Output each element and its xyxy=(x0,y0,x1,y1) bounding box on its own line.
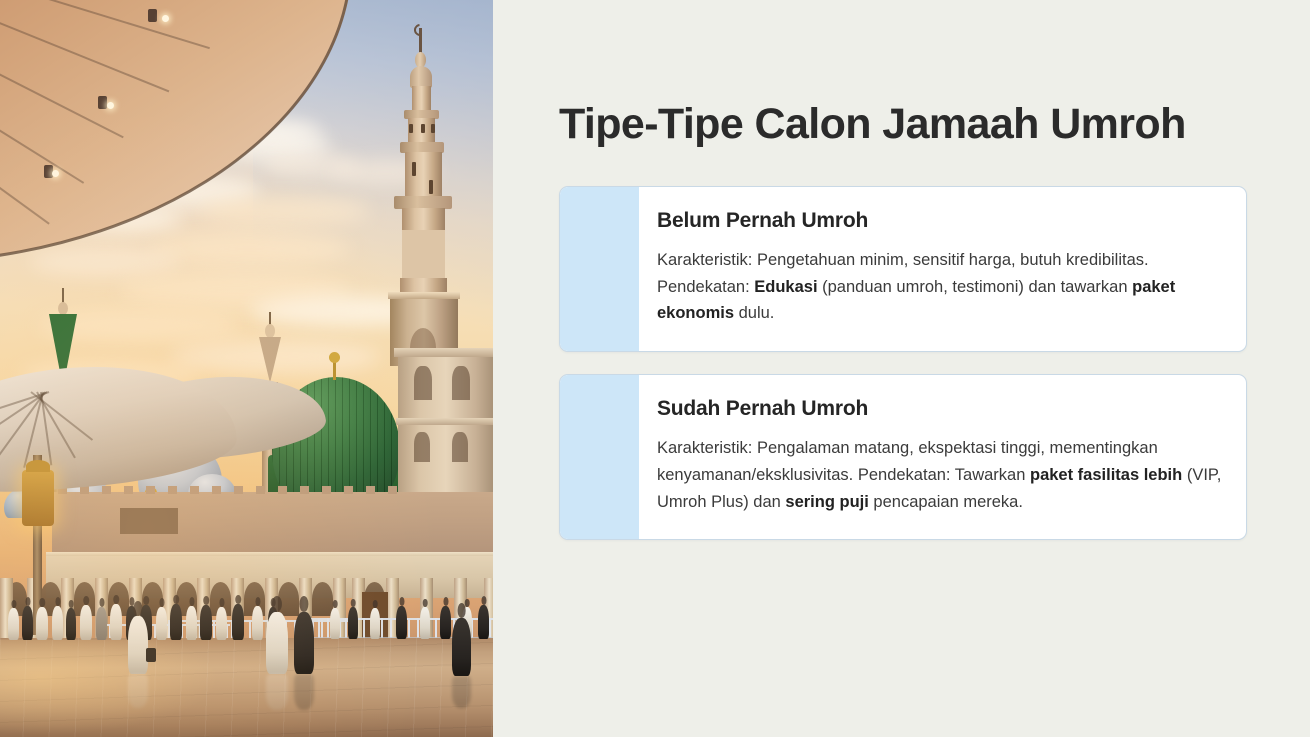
wall-crenellation xyxy=(102,486,111,494)
card-title: Belum Pernah Umroh xyxy=(657,209,1224,233)
wall-crenellation xyxy=(146,486,155,494)
wall-crenellation xyxy=(388,486,397,494)
pilgrim xyxy=(200,605,212,640)
body-text: pencapaian mereka. xyxy=(869,493,1023,511)
card-list: Belum Pernah Umroh Karakteristik: Penget… xyxy=(559,186,1247,540)
cloud xyxy=(200,196,370,226)
tower-cornice xyxy=(396,418,493,425)
pilgrim xyxy=(52,606,63,640)
pilgrim-reflection xyxy=(128,674,148,708)
pilgrim xyxy=(186,606,197,640)
pilgrim xyxy=(8,608,19,640)
tower-window xyxy=(452,366,470,400)
wall-crenellation xyxy=(344,486,353,494)
page-title: Tipe-Tipe Calon Jamaah Umroh xyxy=(559,101,1259,148)
tower-window xyxy=(414,432,430,462)
mosque-photo xyxy=(0,0,493,737)
dome-finial-ball xyxy=(329,352,340,363)
pilgrim xyxy=(330,608,340,639)
card-body: Belum Pernah Umroh Karakteristik: Penget… xyxy=(639,187,1246,351)
canopy-lamp-icon xyxy=(52,170,59,177)
wall-crenellation xyxy=(256,486,265,494)
wall-crenellation xyxy=(212,486,221,494)
pilgrim-foreground xyxy=(266,612,288,674)
pilgrim xyxy=(66,608,76,640)
pilgrim xyxy=(36,607,48,640)
wall-crenellation xyxy=(168,486,177,494)
card-accent-bar xyxy=(560,375,639,539)
minaret-finial xyxy=(419,28,422,54)
pilgrim xyxy=(22,606,33,640)
card-sudah-pernah-umroh[interactable]: Sudah Pernah Umroh Karakteristik: Pengal… xyxy=(559,374,1247,540)
tower-cornice xyxy=(394,348,493,357)
minaret-segment xyxy=(412,86,431,112)
emphasis-text: paket fasilitas lebih xyxy=(1030,466,1182,484)
canopy-node xyxy=(98,96,107,109)
pilgrim xyxy=(478,605,489,639)
pilgrim xyxy=(96,607,107,640)
minaret-cone xyxy=(259,337,281,383)
pilgrim-reflection xyxy=(294,674,314,710)
pilgrim xyxy=(156,607,167,640)
pilgrim xyxy=(216,607,227,640)
pilgrim xyxy=(440,606,451,639)
card-accent-bar xyxy=(560,187,639,351)
pilgrim xyxy=(348,607,358,639)
minaret-window xyxy=(431,124,435,133)
pilgrim-reflection xyxy=(452,676,471,708)
mosque-wall-upper xyxy=(52,492,493,558)
pilgrim-foreground xyxy=(128,616,148,674)
wall-crenellation xyxy=(190,486,199,494)
minaret-segment xyxy=(402,208,445,232)
cloud xyxy=(150,232,350,266)
wall-crenellation xyxy=(234,486,243,494)
wall-crenellation xyxy=(366,486,375,494)
card-text: Karakteristik: Pengetahuan minim, sensit… xyxy=(657,247,1224,327)
minaret-window xyxy=(412,162,416,176)
wall-crenellation xyxy=(300,486,309,494)
pilgrim xyxy=(170,604,182,640)
card-body: Sudah Pernah Umroh Karakteristik: Pengal… xyxy=(639,375,1246,539)
tower-window xyxy=(414,366,432,400)
lantern-icon xyxy=(22,470,54,526)
wall-crenellation xyxy=(124,486,133,494)
courtyard-sun-glow xyxy=(0,640,220,735)
card-title: Sudah Pernah Umroh xyxy=(657,397,1224,421)
hand-bag xyxy=(146,648,156,662)
minaret-cap xyxy=(410,66,432,88)
canopy-lamp-icon xyxy=(162,15,169,22)
pilgrim xyxy=(252,606,263,640)
pilgrim-foreground xyxy=(294,612,314,674)
emphasis-text: sering puji xyxy=(785,493,868,511)
body-text: dulu. xyxy=(734,304,774,322)
pilgrim-reflection xyxy=(266,674,288,710)
pilgrim xyxy=(232,604,244,640)
body-text: (panduan umroh, testimoni) dan tawarkan xyxy=(818,278,1133,296)
tower-window xyxy=(452,432,468,462)
pilgrim-foreground xyxy=(452,618,471,676)
wall-crenellation xyxy=(322,486,331,494)
slide: Tipe-Tipe Calon Jamaah Umroh Belum Perna… xyxy=(0,0,1310,737)
pilgrim xyxy=(110,604,122,640)
minaret-window xyxy=(421,124,425,133)
arcade-arch xyxy=(312,582,333,616)
minaret-window xyxy=(429,180,433,194)
pilgrim xyxy=(420,607,430,639)
card-text: Karakteristik: Pengalaman matang, ekspek… xyxy=(657,435,1224,515)
minaret-zigzag-band xyxy=(402,230,445,280)
card-belum-pernah-umroh[interactable]: Belum Pernah Umroh Karakteristik: Penget… xyxy=(559,186,1247,352)
pilgrim xyxy=(80,605,92,640)
content-panel: Tipe-Tipe Calon Jamaah Umroh Belum Perna… xyxy=(493,0,1310,737)
pilgrim xyxy=(370,608,380,639)
wall-recess xyxy=(120,508,178,534)
minaret-segment xyxy=(405,152,442,200)
pilgrim xyxy=(396,606,407,639)
cloud xyxy=(30,248,180,276)
wall-crenellation xyxy=(278,486,287,494)
minaret-window xyxy=(409,124,413,133)
emphasis-text: Edukasi xyxy=(754,278,817,296)
canopy-lamp-icon xyxy=(107,102,114,109)
canopy-node xyxy=(148,9,157,22)
